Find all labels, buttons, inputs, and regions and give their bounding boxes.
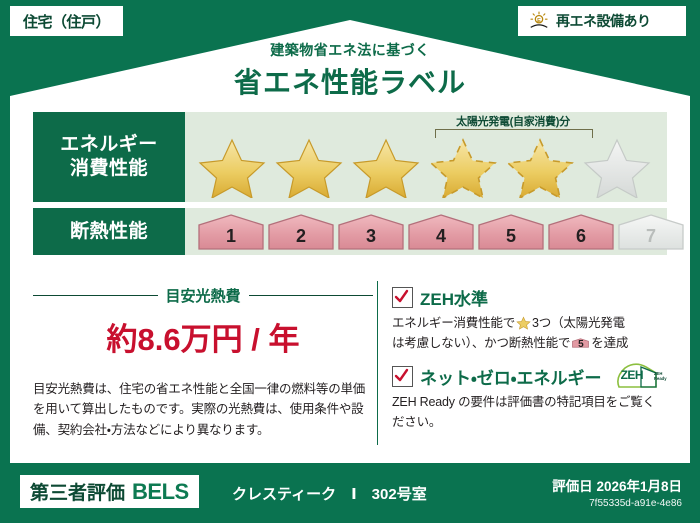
zeh-netzero-item: ネット・ゼロ・エネルギー ZEH ZEH Ready ZEH Ready の要件… — [392, 363, 667, 432]
vertical-divider — [377, 281, 378, 445]
inline-house-level: 5 — [572, 337, 589, 353]
insulation-label-text: 断熱性能 — [70, 220, 148, 244]
level-number: 4 — [407, 226, 475, 247]
zeh-standard-text-3: を達成 — [591, 336, 628, 350]
third-party-eval-label: 第三者評価 — [30, 478, 125, 505]
star-empty — [580, 134, 654, 198]
insulation-level-3: 3 — [337, 213, 405, 251]
insulation-level-7: 7 — [617, 213, 685, 251]
insulation-performance-label: 断熱性能 — [33, 208, 185, 255]
utility-cost-note: 目安光熱費は、住宅の省エネ性能と全国一律の燃料等の単価を用いて算出したものです。… — [33, 379, 373, 440]
utility-cost-title: 目安光熱費 — [166, 285, 241, 306]
utility-cost-section: 目安光熱費 約8.6万円 / 年 目安光熱費は、住宅の省エネ性能と全国一律の燃料… — [33, 277, 373, 449]
performance-section: エネルギー 消費性能 太陽光発電(自家消費)分 — [33, 112, 667, 261]
insulation-level-1: 1 — [197, 213, 265, 251]
zeh-standard-header: ZEH水準 — [392, 285, 667, 310]
insulation-performance-row: 断熱性能 1 2 — [33, 208, 667, 255]
star-rating — [195, 134, 654, 198]
solar-annotation: 太陽光発電(自家消費)分 — [421, 114, 605, 136]
zeh-standard-item: ZEH水準 エネルギー消費性能で3つ（太陽光発電 は考慮しない）、かつ断熱性能で… — [392, 285, 667, 353]
renewable-energy-badge: E 再エネ設備あり — [518, 6, 686, 36]
heading-rule-right — [249, 295, 374, 296]
insulation-level-5: 5 — [477, 213, 545, 251]
inline-house-icon: 5 — [572, 335, 589, 351]
housing-type-label: 住宅（住戸） — [23, 11, 110, 32]
renewable-badge-label: 再エネ設備あり — [556, 11, 651, 31]
bels-logo-text: BELS — [132, 479, 189, 505]
title-main: 省エネ性能ラベル — [0, 61, 700, 101]
zeh-logo-sub: ZEH Ready — [654, 372, 667, 382]
svg-text:E: E — [537, 18, 541, 24]
lower-content: 目安光熱費 約8.6万円 / 年 目安光熱費は、住宅の省エネ性能と全国一律の燃料… — [33, 277, 667, 449]
footer-bar: 第三者評価 BELS クレスティーク Ⅰ 302号室 評価日 2026年1月8日… — [0, 463, 700, 523]
energy-performance-label: エネルギー 消費性能 — [33, 112, 185, 202]
zeh-ready-logo: ZEH ZEH Ready — [613, 363, 667, 389]
level-number: 7 — [617, 226, 685, 247]
zeh-standard-stars: 3つ（太陽光発電 — [532, 316, 625, 330]
star-filled — [349, 134, 423, 198]
insulation-levels-area: 1 2 3 4 — [185, 208, 667, 255]
insulation-level-6: 6 — [547, 213, 615, 251]
zeh-netzero-title: ネット・ゼロ・エネルギー — [420, 364, 602, 389]
energy-performance-row: エネルギー 消費性能 太陽光発電(自家消費)分 — [33, 112, 667, 202]
star-filled — [272, 134, 346, 198]
zeh-logo-text: ZEH — [621, 368, 644, 382]
evaluation-date: 評価日 2026年1月8日 — [552, 475, 682, 495]
bels-tag: 第三者評価 BELS — [20, 475, 199, 508]
insulation-level-4: 4 — [407, 213, 475, 251]
insulation-level-scale: 1 2 3 4 — [197, 213, 685, 251]
heading-rule-left — [33, 295, 158, 296]
star-solar — [426, 134, 500, 198]
zeh-logo-sub2: Ready — [654, 376, 667, 381]
utility-cost-heading: 目安光熱費 — [33, 285, 373, 306]
evaluation-id: 7f55335d-a91e-4e86 — [552, 498, 682, 509]
inline-star-icon — [516, 315, 531, 330]
label-title: 建築物省エネ法に基づく 省エネ性能ラベル — [0, 40, 700, 101]
level-number: 1 — [197, 226, 265, 247]
zeh-netzero-body: ZEH Ready の要件は評価書の特記項目をご覧ください。 — [392, 392, 667, 432]
star-solar — [503, 134, 577, 198]
level-number: 3 — [337, 226, 405, 247]
solar-annotation-label: 太陽光発電(自家消費)分 — [421, 113, 605, 129]
energy-label-line1: エネルギー — [60, 133, 158, 157]
zeh-netzero-checkbox[interactable] — [392, 366, 413, 387]
zeh-standard-body: エネルギー消費性能で3つ（太陽光発電 は考慮しない）、かつ断熱性能で5を達成 — [392, 313, 667, 353]
zeh-section: ZEH水準 エネルギー消費性能で3つ（太陽光発電 は考慮しない）、かつ断熱性能で… — [392, 277, 667, 449]
level-number: 6 — [547, 226, 615, 247]
title-subtitle: 建築物省エネ法に基づく — [0, 40, 700, 60]
zeh-netzero-header: ネット・ゼロ・エネルギー ZEH ZEH Ready — [392, 363, 667, 389]
energy-label-line2: 消費性能 — [60, 157, 158, 181]
energy-stars-area: 太陽光発電(自家消費)分 — [185, 112, 667, 202]
insulation-level-2: 2 — [267, 213, 335, 251]
sun-icon: E — [528, 10, 550, 32]
zeh-standard-checkbox[interactable] — [392, 287, 413, 308]
zeh-standard-title: ZEH水準 — [420, 285, 488, 310]
housing-type-tag: 住宅（住戸） — [10, 6, 123, 36]
evaluation-info: 評価日 2026年1月8日 7f55335d-a91e-4e86 — [552, 475, 682, 509]
zeh-standard-text-1: エネルギー消費性能で — [392, 316, 515, 330]
building-name: クレスティーク Ⅰ 302号室 — [232, 483, 427, 504]
zeh-standard-text-2: は考慮しない）、かつ断熱性能で — [392, 336, 570, 350]
level-number: 5 — [477, 226, 545, 247]
level-number: 2 — [267, 226, 335, 247]
star-filled — [195, 134, 269, 198]
utility-cost-value: 約8.6万円 / 年 — [33, 314, 373, 359]
